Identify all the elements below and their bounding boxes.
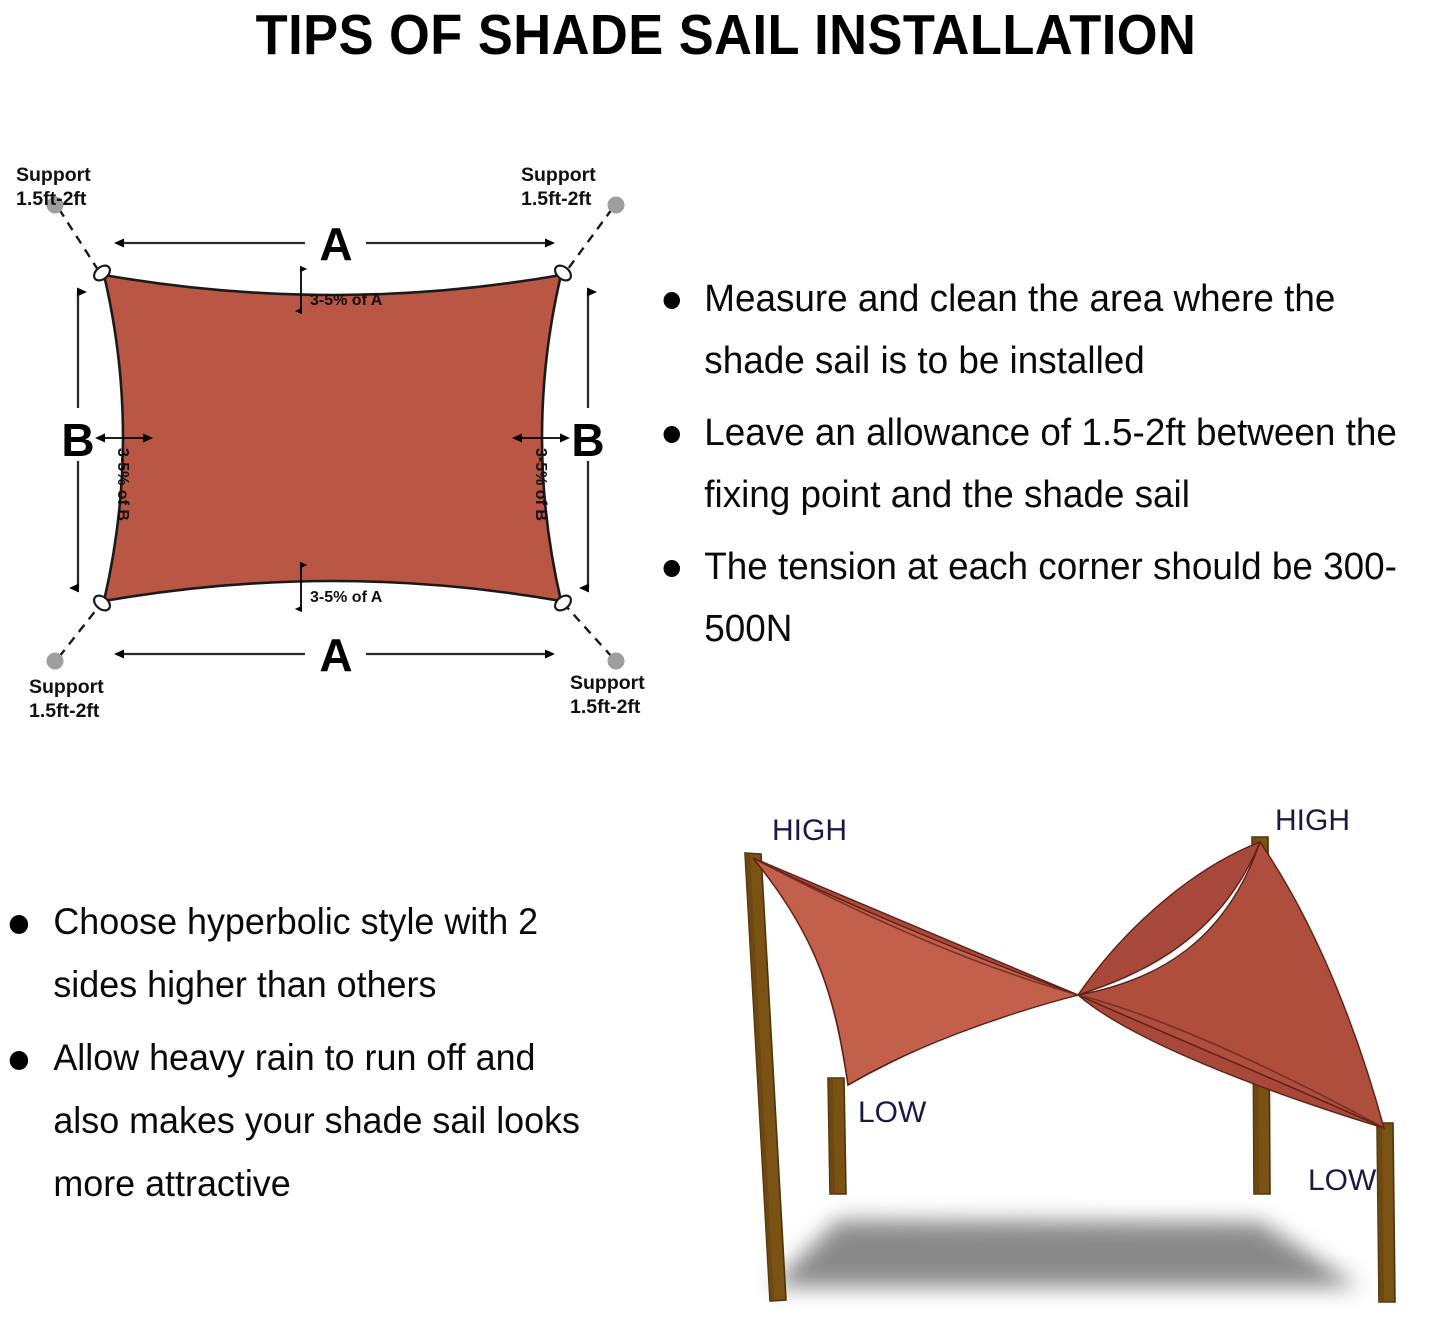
ground-shadow	[770, 1220, 1360, 1287]
corner-label-low-right: LOW	[1308, 1164, 1377, 1197]
style-tip-text: Allow heavy rain to run off and also mak…	[53, 1037, 580, 1204]
dimension-label-B-right: B	[571, 414, 604, 466]
style-tip-text: Choose hyperbolic style with 2 sides hig…	[53, 901, 538, 1005]
tip-text: The tension at each corner should be 300…	[704, 546, 1397, 650]
rect-sail-diagram: A A B B 3-5% of A	[0, 165, 660, 735]
post-back-left	[745, 853, 786, 1301]
shade-sail-fabric	[104, 275, 561, 601]
page-title: TIPS OF SHADE SAIL INSTALLATION	[58, 0, 1394, 70]
support-dot-bottom-right	[608, 653, 625, 670]
support-title-br: Support	[570, 672, 645, 694]
dimension-label-A-top: A	[319, 218, 352, 270]
hyperbolic-style-tips-list: Choose hyperbolic style with 2 sides hig…	[0, 890, 620, 1225]
sail-surface-left-wing	[753, 858, 1078, 1085]
list-item: Allow heavy rain to run off and also mak…	[0, 1026, 601, 1215]
curve-note-left: 3-5% of B	[114, 448, 131, 521]
curve-note-right: 3-5% of B	[532, 448, 549, 521]
poster-root: TIPS OF SHADE SAIL INSTALLATION	[0, 0, 1452, 1325]
post-front-right	[1377, 1123, 1395, 1302]
bullet-dot-icon	[10, 1051, 28, 1070]
support-title-tr: Support	[521, 164, 596, 186]
bullet-dot-icon	[664, 292, 680, 309]
support-label-bottom-left: Support 1.5ft-2ft	[29, 676, 104, 722]
list-item: Measure and clean the area where the sha…	[648, 268, 1428, 392]
support-label-top-left: Support 1.5ft-2ft	[16, 164, 91, 210]
curve-note-top: 3-5% of A	[310, 292, 383, 309]
corner-label-high-right: HIGH	[1275, 804, 1350, 837]
bullet-dot-icon	[664, 560, 680, 577]
support-label-top-right: Support 1.5ft-2ft	[521, 164, 596, 210]
support-dot-top-right	[608, 197, 625, 214]
support-value-bl: 1.5ft-2ft	[29, 700, 100, 722]
tether-top-right	[565, 209, 612, 273]
tether-top-left	[59, 209, 100, 273]
list-item: Leave an allowance of 1.5-2ft between th…	[648, 402, 1428, 526]
support-label-bottom-right: Support 1.5ft-2ft	[570, 672, 645, 718]
dimension-label-A-bottom: A	[319, 629, 352, 681]
support-title-tl: Support	[16, 164, 91, 186]
list-item: The tension at each corner should be 300…	[648, 536, 1428, 660]
support-title-bl: Support	[29, 676, 104, 698]
tip-text: Measure and clean the area where the sha…	[704, 278, 1335, 382]
list-item: Choose hyperbolic style with 2 sides hig…	[0, 890, 601, 1016]
bullet-dot-icon	[664, 426, 680, 443]
support-value-tl: 1.5ft-2ft	[16, 188, 87, 210]
support-dot-bottom-left	[47, 653, 64, 670]
tip-text: Leave an allowance of 1.5-2ft between th…	[704, 412, 1397, 516]
installation-tips-list: Measure and clean the area where the sha…	[648, 268, 1452, 670]
tether-bottom-left	[59, 605, 100, 657]
curve-note-bottom: 3-5% of A	[310, 589, 383, 606]
support-value-br: 1.5ft-2ft	[570, 696, 641, 718]
support-value-tr: 1.5ft-2ft	[521, 188, 592, 210]
corner-label-high-left: HIGH	[772, 814, 847, 847]
dimension-label-B-left: B	[61, 414, 94, 466]
corner-label-low-left: LOW	[858, 1096, 927, 1129]
bullet-dot-icon	[10, 915, 28, 934]
curve-callout-top: 3-5% of A	[301, 269, 383, 311]
post-front-left	[828, 1078, 846, 1194]
hyperbolic-sail-diagram: HIGH HIGH LOW LOW	[660, 790, 1452, 1325]
tether-bottom-right	[565, 605, 612, 657]
